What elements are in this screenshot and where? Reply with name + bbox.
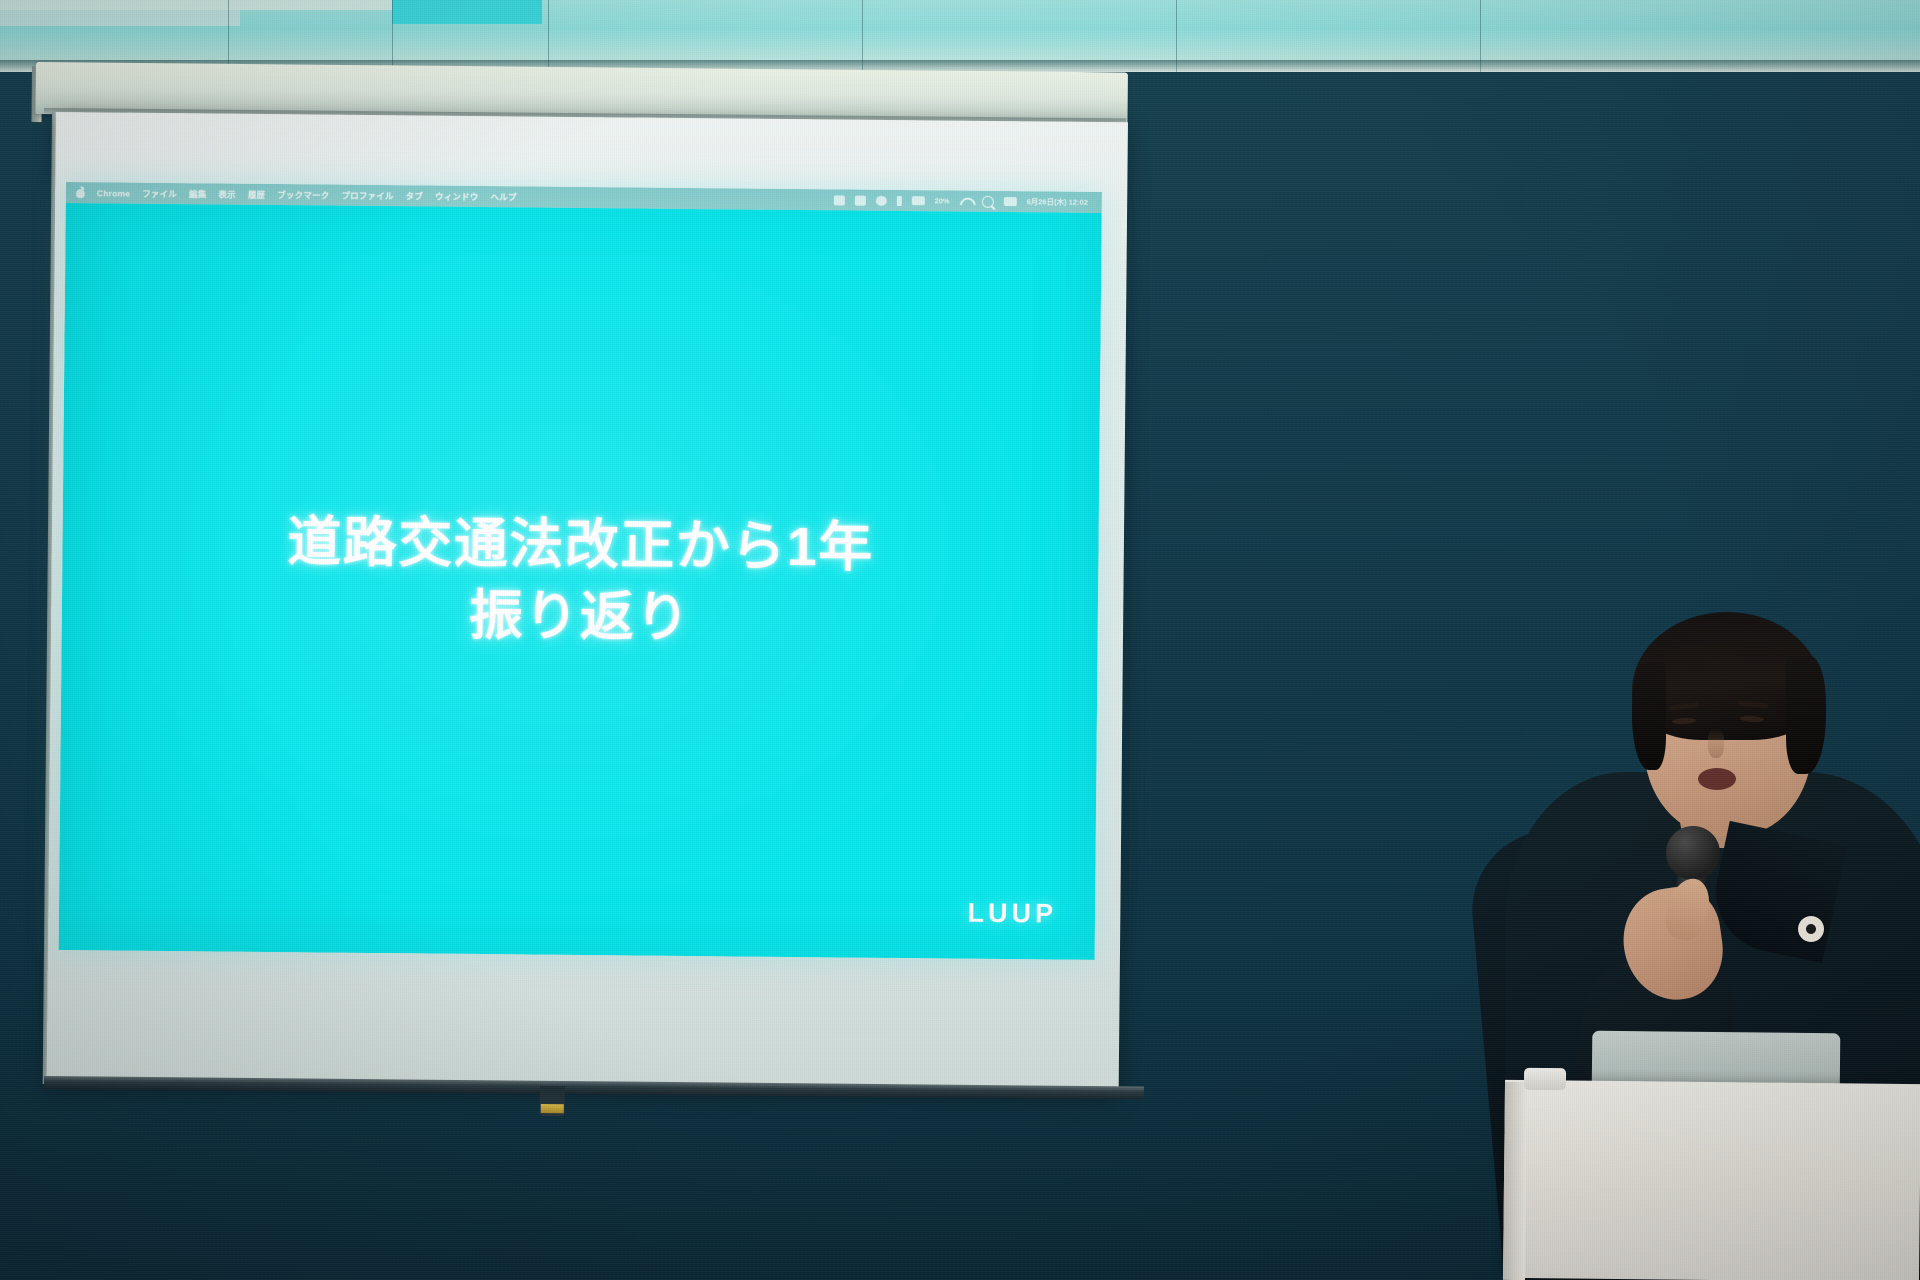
ceiling-tiles [0, 0, 1920, 72]
sdgs-lapel-pin-icon [1798, 916, 1824, 942]
menu-item-chrome[interactable]: Chrome [97, 188, 130, 198]
menu-item-bookmarks[interactable]: ブックマーク [277, 189, 329, 202]
slide-content: 道路交通法改正から1年 振り返り [59, 203, 1102, 960]
menu-bar-clock[interactable]: 6月26日(木) 12:02 [1027, 196, 1088, 208]
wifi-icon[interactable] [960, 197, 972, 206]
menu-item-tab[interactable]: タブ [406, 190, 424, 202]
menu-item-profiles[interactable]: プロファイル [341, 189, 393, 202]
slide-title-line-2: 振り返り [286, 579, 873, 656]
menu-bar-left-group: Chrome ファイル 編集 表示 履歴 ブックマーク プロファイル タブ ウィ… [66, 186, 517, 202]
bluetooth-icon[interactable] [897, 195, 902, 205]
app-icon[interactable] [876, 195, 887, 205]
screen-pull-tab[interactable] [540, 1086, 565, 1116]
luup-brand-logo: LUUP [967, 898, 1057, 930]
menu-item-edit[interactable]: 編集 [189, 188, 207, 200]
screen-record-icon[interactable] [834, 195, 845, 205]
podium-clip [1524, 1068, 1566, 1090]
podium [1503, 1080, 1920, 1280]
menu-item-file[interactable]: ファイル [142, 187, 177, 199]
presenter-mouth [1698, 768, 1736, 790]
presentation-slide: 道路交通法改正から1年 振り返り LUUP [59, 203, 1102, 960]
presenter-hair-right [1786, 656, 1826, 774]
menu-item-help[interactable]: ヘルプ [491, 191, 517, 203]
presenter-nose [1708, 728, 1724, 758]
slide-title: 道路交通法改正から1年 振り返り [286, 507, 874, 655]
slide-title-line-1: 道路交通法改正から1年 [287, 512, 874, 578]
menu-item-history[interactable]: 履歴 [248, 188, 266, 200]
microphone-head [1666, 826, 1720, 880]
menu-item-view[interactable]: 表示 [218, 188, 236, 200]
ceiling-light-reflection [392, 0, 542, 24]
menu-bar-status-group: 20% 6月26日(木) 12:02 [834, 194, 1102, 209]
spotlight-search-icon[interactable] [982, 195, 994, 207]
presenter-hair-left [1632, 662, 1666, 770]
projected-desktop: Chrome ファイル 編集 表示 履歴 ブックマーク プロファイル タブ ウィ… [59, 182, 1102, 960]
presentation-photo: Chrome ファイル 編集 表示 履歴 ブックマーク プロファイル タブ ウィ… [0, 0, 1920, 1280]
battery-percentage[interactable]: 20% [935, 196, 950, 205]
podium-edge [1503, 1082, 1527, 1280]
screenshot-icon[interactable] [912, 196, 925, 205]
control-center-icon[interactable] [1004, 197, 1017, 206]
instagram-icon[interactable] [855, 195, 866, 205]
menu-item-window[interactable]: ウィンドウ [435, 190, 479, 202]
ceiling-panel-bright [0, 0, 392, 10]
apple-logo-icon[interactable] [76, 187, 85, 198]
